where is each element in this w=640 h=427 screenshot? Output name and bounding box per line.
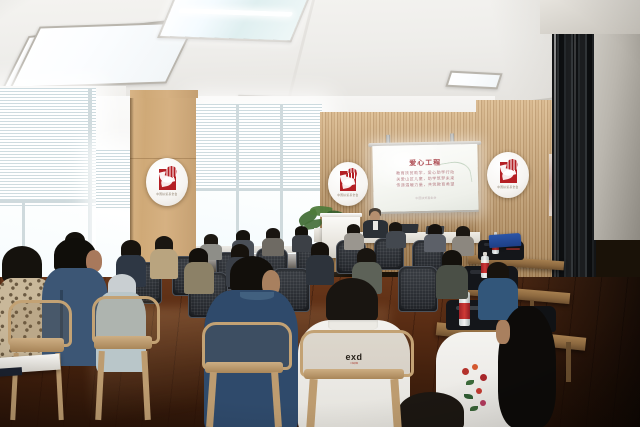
- attendee: [150, 236, 178, 278]
- foundation-logo-mark: [500, 162, 517, 183]
- foundation-logo-mark: [340, 171, 356, 191]
- venetian-blind: [196, 104, 322, 190]
- desk-leg: [566, 342, 571, 382]
- photo-seminar-room: 中国扶贫基金会 中国扶贫基金会 中国扶贫基金会 爱心: [0, 0, 640, 427]
- backpack-accent: [506, 248, 520, 250]
- blue-case[interactable]: [489, 233, 522, 248]
- floral-embroidery: [458, 364, 498, 414]
- attendee: [344, 224, 364, 248]
- wood-partition-top-rail: [130, 90, 198, 98]
- chair-seat: [304, 369, 403, 380]
- wall-right-upper: [540, 0, 640, 34]
- chair-leg: [206, 372, 217, 427]
- chair-leg: [306, 378, 317, 427]
- venetian-blind: [0, 88, 96, 206]
- torso: [150, 249, 178, 279]
- floral-leaf: [464, 394, 473, 399]
- wall-logo-sign-right: 中国扶贫基金会: [487, 152, 529, 198]
- shirt-collar: [240, 292, 274, 300]
- light-diffuser: [160, 0, 310, 40]
- torso: [436, 265, 468, 299]
- slide-body: 教育扶贫助学，爱心助学行动 关爱山区儿童，助学筑梦未来 传递温暖力量，共筑教育希…: [373, 169, 478, 190]
- logo-leaf-second: [341, 178, 354, 189]
- light-diffuser: [448, 73, 500, 88]
- slide-line: 传递温暖力量，共筑教育希望: [373, 181, 478, 189]
- neck-skin: [496, 320, 510, 344]
- projection-screen-assembly: 爱心工程 教育扶贫助学，爱心助学行动 关爱山区儿童，助学筑梦未来 传递温暖力量，…: [372, 144, 478, 214]
- attendee: [262, 228, 284, 254]
- torso: [262, 238, 284, 256]
- wooden-chair[interactable]: [92, 296, 154, 420]
- floral-petal: [480, 400, 486, 406]
- logo-caption: 中国扶贫基金会: [156, 192, 177, 196]
- attendee: [386, 222, 406, 246]
- floral-leaf: [470, 406, 478, 411]
- chair-leg: [390, 378, 401, 427]
- window-mullion: [196, 188, 322, 191]
- chair-leg: [271, 372, 282, 427]
- floral-petal: [480, 374, 487, 381]
- lectern-top: [320, 213, 362, 217]
- head-hair: [2, 246, 42, 282]
- chair-seat: [10, 338, 63, 351]
- attendee: [436, 250, 468, 296]
- slide-footer: 中国扶贫基金会: [373, 195, 478, 201]
- floral-petal: [472, 364, 478, 370]
- recessed-linear-light-right: [157, 0, 313, 42]
- chair-seat: [94, 336, 151, 350]
- logo-caption: 中国扶贫基金会: [497, 185, 518, 189]
- floral-petal: [462, 368, 469, 375]
- speaker-shirt: [373, 221, 378, 230]
- floral-petal: [476, 388, 482, 394]
- head-hair: [326, 278, 378, 322]
- window-mullion: [0, 200, 96, 203]
- logo-caption: 中国扶贫基金会: [337, 193, 358, 197]
- floral-leaf: [466, 380, 474, 385]
- wall-logo-sign-center: 中国扶贫基金会: [328, 162, 368, 206]
- logo-fan: [505, 157, 518, 170]
- wooden-chair[interactable]: [202, 322, 286, 427]
- wall-logo-sign-left: 中国扶贫基金会: [146, 158, 188, 206]
- recessed-linear-light-rear-right: [445, 71, 502, 90]
- chair-leg: [95, 350, 105, 420]
- foundation-logo-mark: [159, 169, 176, 190]
- venetian-blind: [96, 150, 130, 210]
- attendee: [424, 224, 446, 250]
- wall-right: [594, 0, 640, 240]
- chair-leg: [141, 350, 151, 420]
- wooden-chair[interactable]: [300, 330, 408, 427]
- torso: [386, 231, 406, 248]
- logo-fan: [164, 164, 177, 177]
- projection-screen: 爱心工程 教育扶贫助学，爱心助学行动 关爱山区儿童，助学筑梦未来 传递温暖力量，…: [372, 144, 478, 214]
